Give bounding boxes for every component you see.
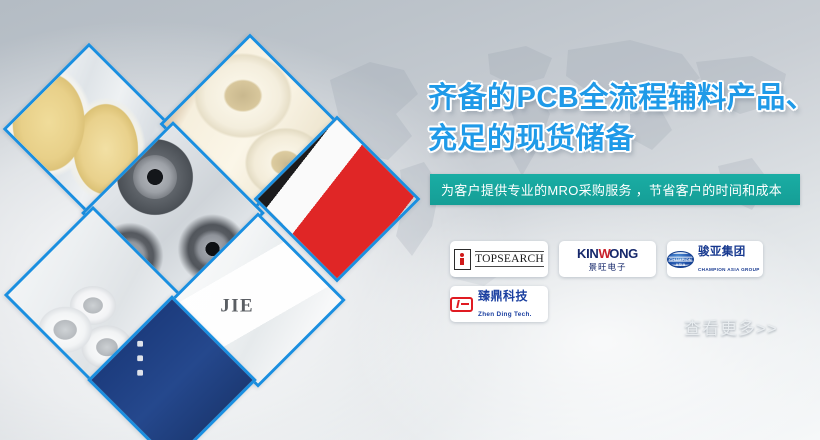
zhen-ding-chinese-label: 臻鼎科技 — [478, 289, 528, 303]
champion-asia-globe-icon: CHAMPION ASIA — [667, 251, 694, 268]
champion-asia-globe-text: CHAMPION ASIA — [668, 257, 693, 267]
kinwong-latin-w: W — [599, 246, 610, 261]
headline-line-1: 齐备的PCB全流程辅料产品、 — [428, 78, 820, 119]
film-print-text: JIE — [220, 295, 254, 318]
topsearch-i-mark-icon — [454, 249, 471, 270]
partner-logo-champion-asia[interactable]: CHAMPION ASIA 骏亚集团 CHAMPION ASIA GROUP — [667, 241, 763, 277]
partner-logo-topsearch[interactable]: TOPSEARCH — [450, 241, 548, 277]
champion-asia-latin-label: CHAMPION ASIA GROUP — [698, 267, 760, 272]
subtitle-text: 为客户提供专业的MRO采购服务 ，节省客户的时间和成本 — [430, 180, 782, 199]
zhen-ding-square-mark-icon — [450, 297, 473, 312]
topsearch-label: TOPSEARCH — [475, 251, 544, 267]
promo-banner: JIE 齐备的PCB全流程辅料产品、 充足的现货储备 为客户提供专业的MRO采购… — [0, 0, 820, 440]
kinwong-latin-a: KIN — [577, 246, 599, 261]
banner-text-block: 齐备的PCB全流程辅料产品、 充足的现货储备 为客户提供专业的MRO采购服务 ，… — [428, 78, 820, 205]
zhen-ding-latin-label: Zhen Ding Tech. — [478, 311, 532, 318]
navy-board-dots — [126, 340, 143, 384]
view-more-link[interactable]: 查看更多>> — [684, 314, 778, 339]
subtitle-band: 为客户提供专业的MRO采购服务 ，节省客户的时间和成本 — [430, 174, 800, 205]
kinwong-chinese-label: 景旺电子 — [577, 263, 638, 272]
partner-logo-zhen-ding[interactable]: 臻鼎科技 Zhen Ding Tech. — [450, 286, 548, 322]
champion-asia-chinese-label: 骏亚集团 — [698, 246, 746, 258]
kinwong-latin-b: ONG — [609, 246, 638, 261]
partner-logo-row-1: TOPSEARCH KINWONG 景旺电子 CHAMPION ASIA 骏亚集… — [450, 241, 810, 277]
product-diamond-collage: JIE — [0, 0, 430, 440]
kinwong-wordmark-icon: KINWONG — [577, 247, 638, 260]
partner-logo-kinwong[interactable]: KINWONG 景旺电子 — [559, 241, 656, 277]
headline-line-2: 充足的现货储备 — [428, 119, 820, 160]
